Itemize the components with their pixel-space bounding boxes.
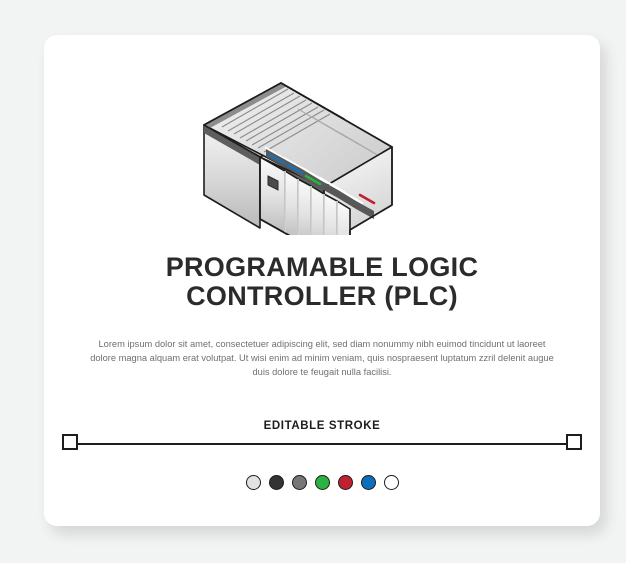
plc-illustration xyxy=(44,35,600,235)
description-text: Lorem ipsum dolor sit amet, consectetuer… xyxy=(90,337,554,379)
stroke-handle-right[interactable] xyxy=(566,434,582,450)
editable-stroke-label: EDITABLE STROKE xyxy=(58,420,586,432)
color-swatch-row xyxy=(44,475,600,490)
swatch-red[interactable] xyxy=(338,475,353,490)
swatch-blue[interactable] xyxy=(361,475,376,490)
swatch-gray[interactable] xyxy=(292,475,307,490)
screenshot-canvas: PROGRAMABLE LOGIC CONTROLLER (PLC) Lorem… xyxy=(0,0,626,563)
swatch-white[interactable] xyxy=(384,475,399,490)
description-paragraph-2: dolore magna alquam erat volutpat. Ut wi… xyxy=(90,351,554,379)
stroke-line xyxy=(76,443,568,445)
swatch-charcoal[interactable] xyxy=(269,475,284,490)
description-paragraph-1: Lorem ipsum dolor sit amet, consectetuer… xyxy=(90,337,554,351)
editable-stroke-section: EDITABLE STROKE xyxy=(58,420,586,454)
stroke-handle-left[interactable] xyxy=(62,434,78,450)
illustration-card: PROGRAMABLE LOGIC CONTROLLER (PLC) Lorem… xyxy=(44,35,600,526)
title-line-1: PROGRAMABLE LOGIC xyxy=(44,253,600,282)
title-line-2: CONTROLLER (PLC) xyxy=(44,282,600,311)
swatch-green[interactable] xyxy=(315,475,330,490)
swatch-light-gray[interactable] xyxy=(246,475,261,490)
page-title: PROGRAMABLE LOGIC CONTROLLER (PLC) xyxy=(44,253,600,311)
